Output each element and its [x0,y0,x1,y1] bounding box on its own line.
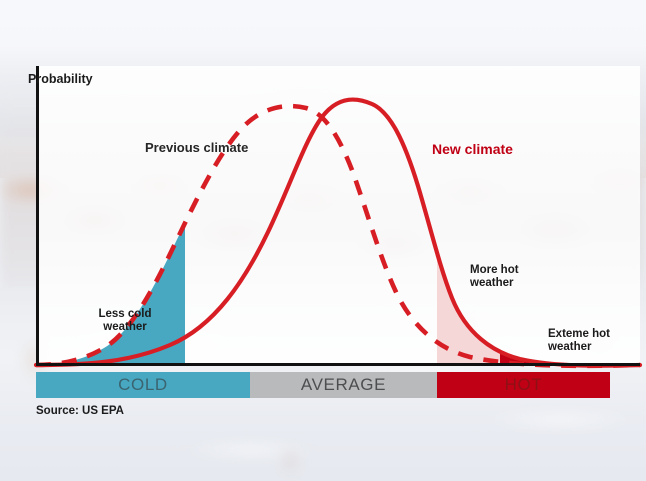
new-climate-label: New climate [432,142,513,158]
temperature-category-bar: COLD AVERAGE HOT [36,372,610,398]
less-cold-weather-line2: weather [83,321,167,334]
chart-screenshot: Probability Previous climate New climate… [0,0,646,481]
extreme-hot-weather-line2: weather [548,341,610,354]
source-label: Source: US EPA [36,405,124,418]
more-hot-weather-label: More hot weather [470,264,519,290]
category-hot: HOT [437,372,610,398]
less-cold-weather-line1: Less cold [83,308,167,321]
more-hot-weather-line1: More hot [470,264,519,277]
extreme-hot-weather-label: Exteme hot weather [548,328,610,354]
extreme-hot-weather-line1: Exteme hot [548,328,610,341]
previous-climate-label: Previous climate [145,141,248,156]
less-cold-weather-label: Less cold weather [83,308,167,334]
y-axis-label: Probability [28,72,93,86]
category-average: AVERAGE [250,372,437,398]
more-hot-weather-line2: weather [470,277,519,290]
category-cold: COLD [36,372,250,398]
